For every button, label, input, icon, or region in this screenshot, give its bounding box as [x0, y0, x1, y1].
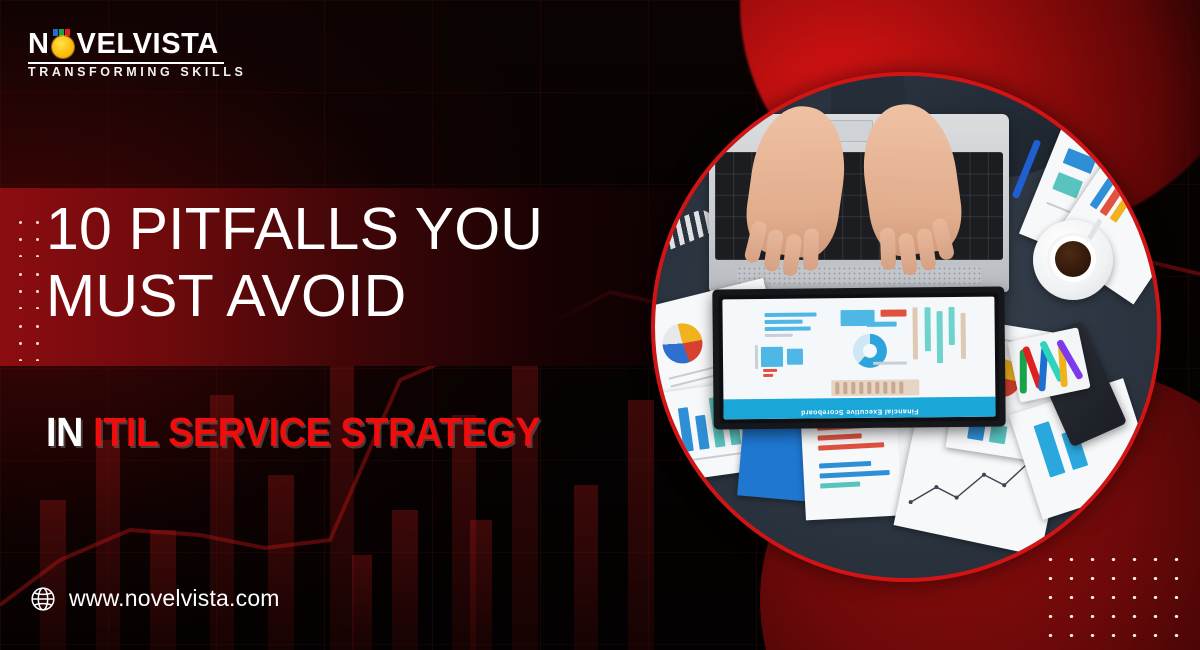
desk-photo: Financial Executive Scoreboard: [655, 76, 1157, 578]
dot-grid-left-2: [10, 264, 40, 309]
laptop-screen: Financial Executive Scoreboard: [712, 286, 1005, 429]
logo-divider: [28, 62, 224, 64]
coffee-saucer: [1033, 220, 1113, 300]
logo-wordmark: N VELVISTA: [28, 30, 228, 59]
subtitle: IN ITIL SERVICE STRATEGY: [46, 412, 540, 453]
logo-word-pre: N: [28, 30, 50, 59]
hero-photo-circle: Financial Executive Scoreboard: [651, 72, 1161, 582]
novelvista-logo[interactable]: N VELVISTA TRANSFORMING SKILLS: [28, 30, 228, 79]
dot-grid-left-1: [10, 212, 40, 257]
headline: 10 PITFALLS YOU MUST AVOID: [46, 196, 686, 329]
headline-line-1: 10 PITFALLS YOU: [46, 196, 543, 262]
logo-word-post: VELVISTA: [77, 30, 219, 59]
promo-banner: N VELVISTA TRANSFORMING SKILLS 10 PITFAL…: [0, 0, 1200, 650]
footer[interactable]: www.novelvista.com: [30, 585, 280, 612]
website-url[interactable]: www.novelvista.com: [69, 585, 280, 612]
headline-line-2: MUST AVOID: [46, 263, 686, 330]
logo-tagline: TRANSFORMING SKILLS: [28, 66, 228, 79]
globe-icon: [30, 586, 56, 612]
subtitle-highlight: ITIL SERVICE STRATEGY: [93, 409, 540, 455]
dot-grid-left-3: [10, 316, 40, 361]
subtitle-prefix: IN: [46, 409, 83, 455]
laptop-dashboard: Financial Executive Scoreboard: [722, 297, 995, 420]
sun-logo-icon: [51, 32, 76, 57]
coffee-cup: [1047, 233, 1099, 285]
logo-flags-icon: [53, 29, 70, 36]
